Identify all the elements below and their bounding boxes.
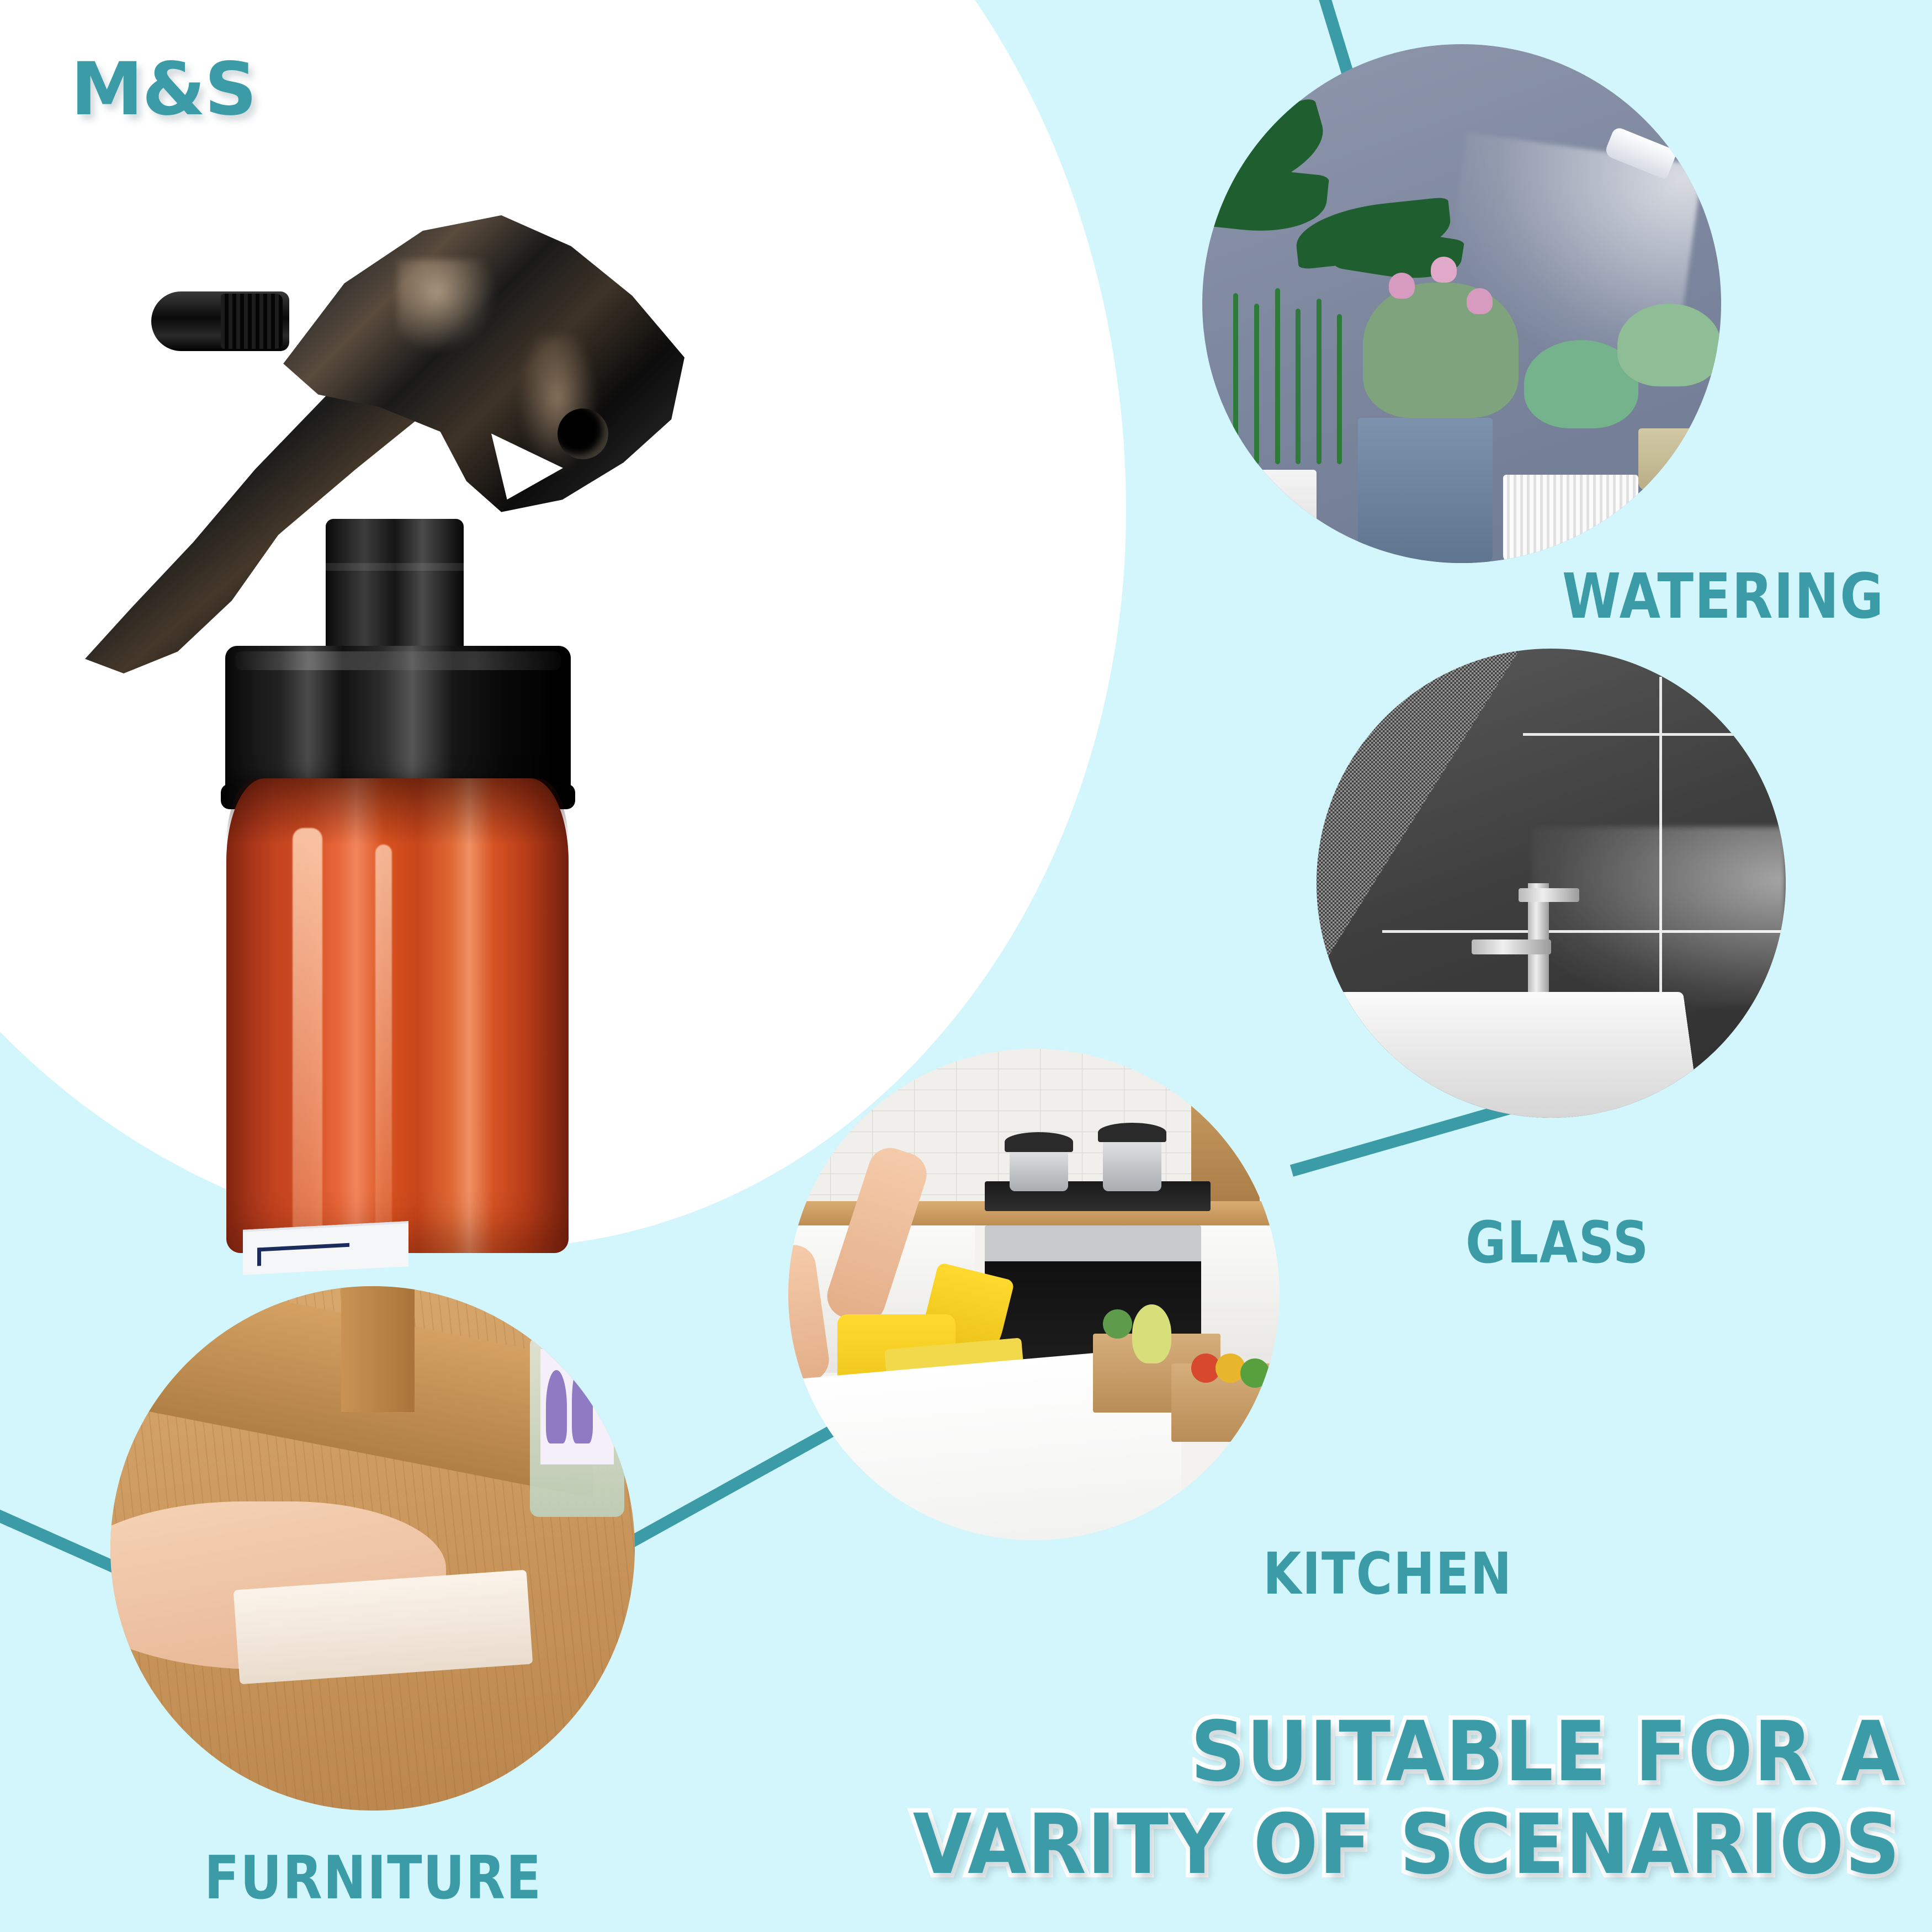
headline-line-1: SUITABLE FOR A xyxy=(913,1706,1901,1798)
brand-logo: M&S xyxy=(71,53,256,126)
bottle-body xyxy=(226,778,569,1253)
pot-lid xyxy=(1098,1123,1167,1143)
succulent-plant xyxy=(1617,304,1721,386)
lavender-graphic xyxy=(546,1370,567,1443)
plant-stem xyxy=(1233,293,1238,464)
scenario-label-watering: WATERING xyxy=(1562,561,1885,633)
head-highlight xyxy=(397,259,497,353)
flower xyxy=(1467,288,1493,314)
kitchen-scene xyxy=(788,1049,1280,1540)
flower xyxy=(1431,257,1457,283)
flower xyxy=(1389,273,1415,299)
furniture-leg xyxy=(341,1286,415,1412)
scenario-circle-furniture[interactable] xyxy=(110,1286,635,1811)
vegetable xyxy=(1132,1304,1171,1363)
scenario-circle-kitchen[interactable] xyxy=(788,1049,1280,1540)
faucet-handle[interactable] xyxy=(1519,888,1580,903)
pot-lid xyxy=(1005,1132,1074,1152)
mist-icon xyxy=(1532,827,1786,1005)
plant-stem xyxy=(1254,304,1259,464)
scenario-label-furniture: FURNITURE xyxy=(204,1844,542,1913)
headline-block: SUITABLE FOR A VARITY OF SCENARIOS xyxy=(827,1706,1901,1891)
scenario-circle-watering[interactable] xyxy=(1202,44,1721,563)
plant-stem xyxy=(1337,314,1342,465)
faucet-spout xyxy=(1472,940,1552,954)
scenario-label-glass: GLASS xyxy=(1466,1209,1649,1276)
cooking-pot xyxy=(1103,1137,1162,1191)
glass-scene xyxy=(1317,649,1786,1118)
scenario-label-kitchen: KITCHEN xyxy=(1263,1540,1512,1607)
plant-pot xyxy=(1358,418,1493,563)
plant-stem xyxy=(1275,288,1280,465)
pump-neck xyxy=(326,519,464,657)
vegetable xyxy=(1240,1358,1270,1388)
pump-neck-ring xyxy=(326,563,464,571)
plant-stem xyxy=(1317,299,1321,465)
nozzle-ribs xyxy=(221,294,283,349)
bottle-highlight xyxy=(375,845,392,1231)
furniture-scene xyxy=(110,1286,635,1811)
plant-pot xyxy=(1202,470,1317,563)
headline-line-2: VARITY OF SCENARIOS xyxy=(913,1798,1901,1891)
plant-pot xyxy=(1638,428,1721,491)
vegetable xyxy=(1103,1309,1132,1339)
plant-pot xyxy=(1503,475,1638,563)
cooking-pot xyxy=(1010,1147,1069,1191)
head-pivot-hole xyxy=(558,408,608,459)
flowering-plant xyxy=(1363,283,1519,417)
cap-highlight xyxy=(235,651,561,670)
lavender-graphic xyxy=(572,1360,593,1443)
watering-scene xyxy=(1202,44,1721,563)
infographic-canvas: WATERING GLASS xyxy=(0,0,1932,1932)
bathroom-sink xyxy=(1317,992,1702,1118)
tile-grout-line xyxy=(1523,733,1786,736)
bottle-highlight xyxy=(293,828,322,1236)
bottle-label xyxy=(243,1221,408,1275)
scenario-circle-glass[interactable] xyxy=(1317,649,1786,1118)
product-spray-bottle xyxy=(138,210,789,1259)
plant-stem xyxy=(1296,309,1301,464)
